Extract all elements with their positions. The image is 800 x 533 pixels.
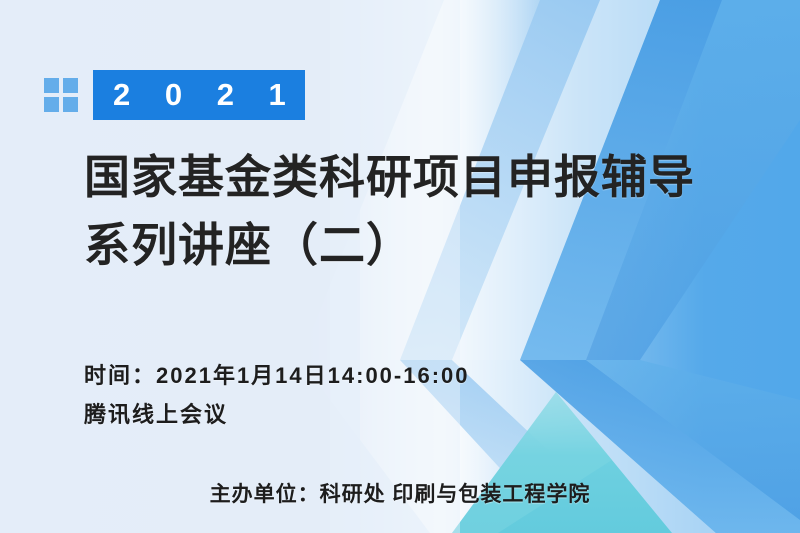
year-badge: 2 0 2 1 <box>93 70 305 120</box>
grid-cell <box>63 97 78 112</box>
organizer-line: 主办单位：科研处 印刷与包装工程学院 <box>0 478 800 508</box>
title-line-2: 系列讲座（二） <box>84 211 695 279</box>
grid-cell <box>44 97 59 112</box>
grid-2x2-icon <box>44 78 78 112</box>
event-details: 时间：2021年1月14日14:00-16:00 腾讯线上会议 <box>84 356 470 434</box>
title-line-1: 国家基金类科研项目申报辅导 <box>84 143 695 211</box>
grid-cell <box>44 78 59 93</box>
event-venue: 腾讯线上会议 <box>84 395 470 434</box>
event-time: 时间：2021年1月14日14:00-16:00 <box>84 356 470 395</box>
grid-cell <box>63 78 78 93</box>
poster-canvas: 2 0 2 1 国家基金类科研项目申报辅导 系列讲座（二） 时间：2021年1月… <box>0 0 800 533</box>
year-badge-row: 2 0 2 1 <box>44 70 305 120</box>
poster-title: 国家基金类科研项目申报辅导 系列讲座（二） <box>84 143 695 279</box>
